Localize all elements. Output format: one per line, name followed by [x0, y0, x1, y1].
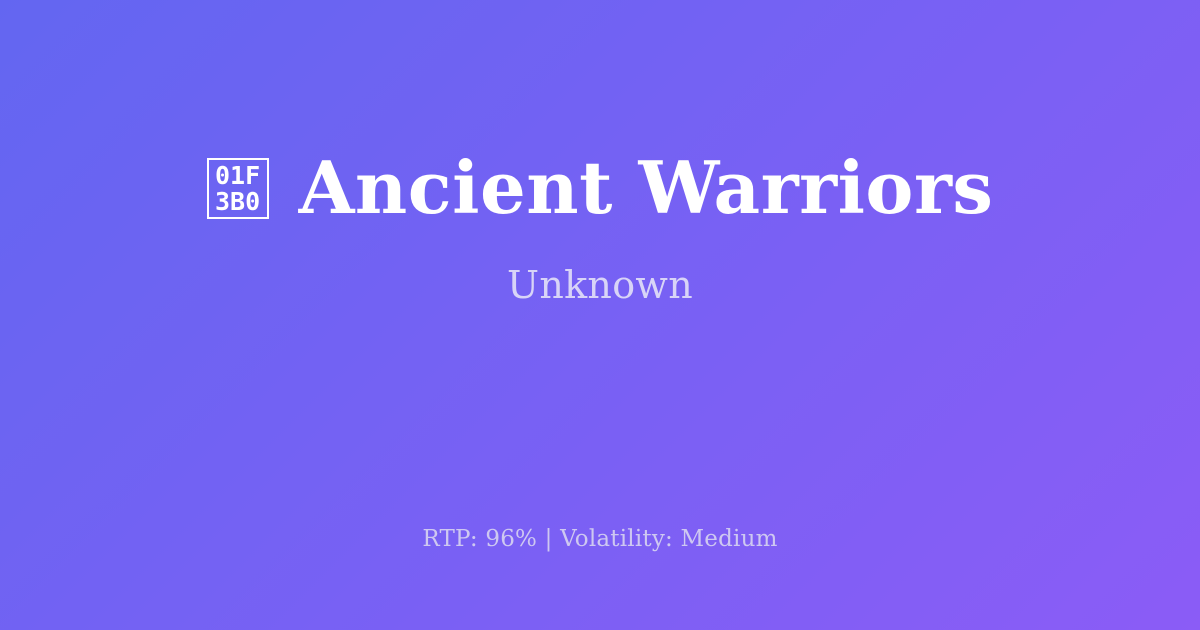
game-provider-subtitle: Unknown [507, 266, 693, 304]
meta-separator: | [537, 526, 560, 552]
slot-machine-emoji-icon: 01F 3B0 [207, 158, 269, 219]
title-line: 01F 3B0 Ancient Warriors [207, 152, 994, 224]
meta-space-2 [673, 526, 681, 552]
game-meta-line: RTP: 96% | Volatility: Medium [0, 528, 1200, 551]
volatility-value: Medium [681, 526, 778, 552]
game-preview-card: 01F 3B0 Ancient Warriors Unknown RTP: 96… [0, 0, 1200, 630]
volatility-label: Volatility: [560, 526, 673, 552]
emoji-codepoint-bottom: 3B0 [215, 189, 260, 215]
rtp-value: 96% [485, 526, 537, 552]
rtp-label: RTP: [422, 526, 477, 552]
game-title: Ancient Warriors [299, 152, 994, 224]
emoji-codepoint-top: 01F [215, 163, 260, 189]
title-block: 01F 3B0 Ancient Warriors Unknown [0, 0, 1200, 455]
